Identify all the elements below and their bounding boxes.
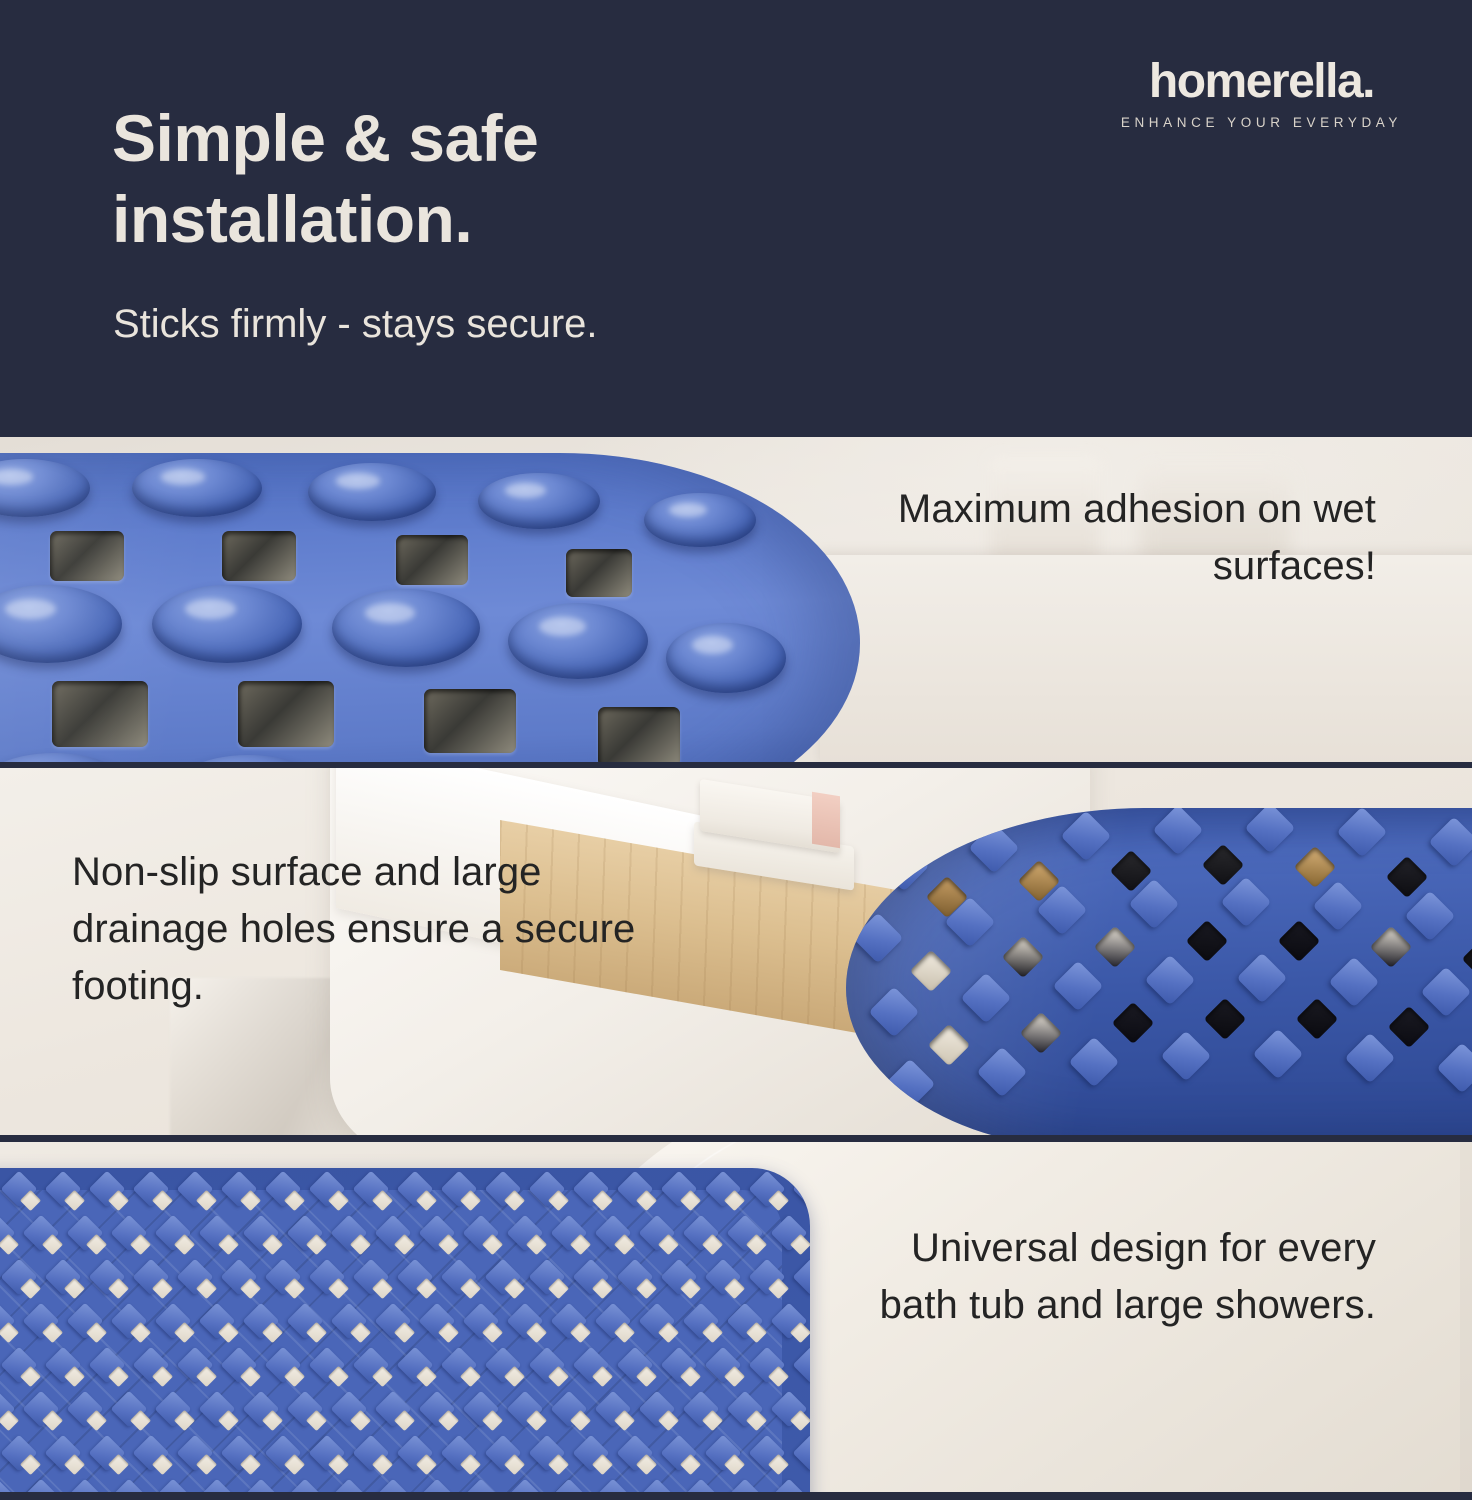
feature-panel-universal: Universal design for every bath tub and … <box>0 1142 1472 1492</box>
feature-panel-non-slip: Non-slip surface and large drainage hole… <box>0 768 1472 1136</box>
mat-lattice-surface <box>0 1190 782 1492</box>
panel-caption-non-slip: Non-slip surface and large drainage hole… <box>72 844 692 1014</box>
background-soap-label <box>812 792 840 848</box>
brand-logo-tagline: ENHANCE YOUR EVERYDAY <box>1121 115 1402 130</box>
header-banner: Simple & safe installation. Sticks firml… <box>0 0 1472 437</box>
mat-diamond-bump <box>155 1479 192 1492</box>
brand-logo: homerella. ENHANCE YOUR EVERYDAY <box>1121 58 1402 130</box>
product-image-suction-cups <box>0 453 860 762</box>
product-image-full-mat <box>0 1168 810 1492</box>
mat-diamond-bump <box>595 1479 632 1492</box>
mat-diamond-bump <box>419 1479 456 1492</box>
mat-diamond-bump <box>23 1479 60 1492</box>
mat-diamond-bump <box>793 1347 810 1384</box>
mat-diamond-bump <box>331 1479 368 1492</box>
mat-diamond-bump <box>287 1479 324 1492</box>
mat-diamond-bump <box>793 1259 810 1296</box>
panel-caption-adhesion: Maximum adhesion on wet surfaces! <box>816 481 1376 595</box>
panel-divider-bottom <box>0 1492 1472 1500</box>
mat-diamond-bump <box>243 1479 280 1492</box>
mat-diamond-bump <box>463 1479 500 1492</box>
mat-diamond-bump <box>727 1479 764 1492</box>
panel-divider-2 <box>0 1135 1472 1142</box>
mat-diamond-bump <box>0 1479 15 1492</box>
page-subtitle: Sticks firmly - stays secure. <box>113 298 1013 350</box>
mat-diamond-bump <box>793 1435 810 1472</box>
mat-diamond-bump <box>683 1479 720 1492</box>
mat-diamond-bump <box>111 1479 148 1492</box>
mat-diamond-bump <box>639 1479 676 1492</box>
mat-diamond-bump <box>375 1479 412 1492</box>
mat-diamond-bump <box>507 1479 544 1492</box>
feature-panel-adhesion: Maximum adhesion on wet surfaces! <box>0 437 1472 762</box>
mat-diamond-bump <box>771 1479 808 1492</box>
panel-caption-universal: Universal design for every bath tub and … <box>856 1220 1376 1334</box>
mat-diamond-bump <box>199 1479 236 1492</box>
brand-logo-wordmark: homerella. <box>1121 58 1402 106</box>
infographic-page: Simple & safe installation. Sticks firml… <box>0 0 1472 1500</box>
mat-diamond-bump <box>67 1479 104 1492</box>
mat-diamond-bump <box>551 1479 588 1492</box>
page-title: Simple & safe installation. <box>112 98 872 259</box>
product-image-mat-curved <box>846 808 1472 1136</box>
